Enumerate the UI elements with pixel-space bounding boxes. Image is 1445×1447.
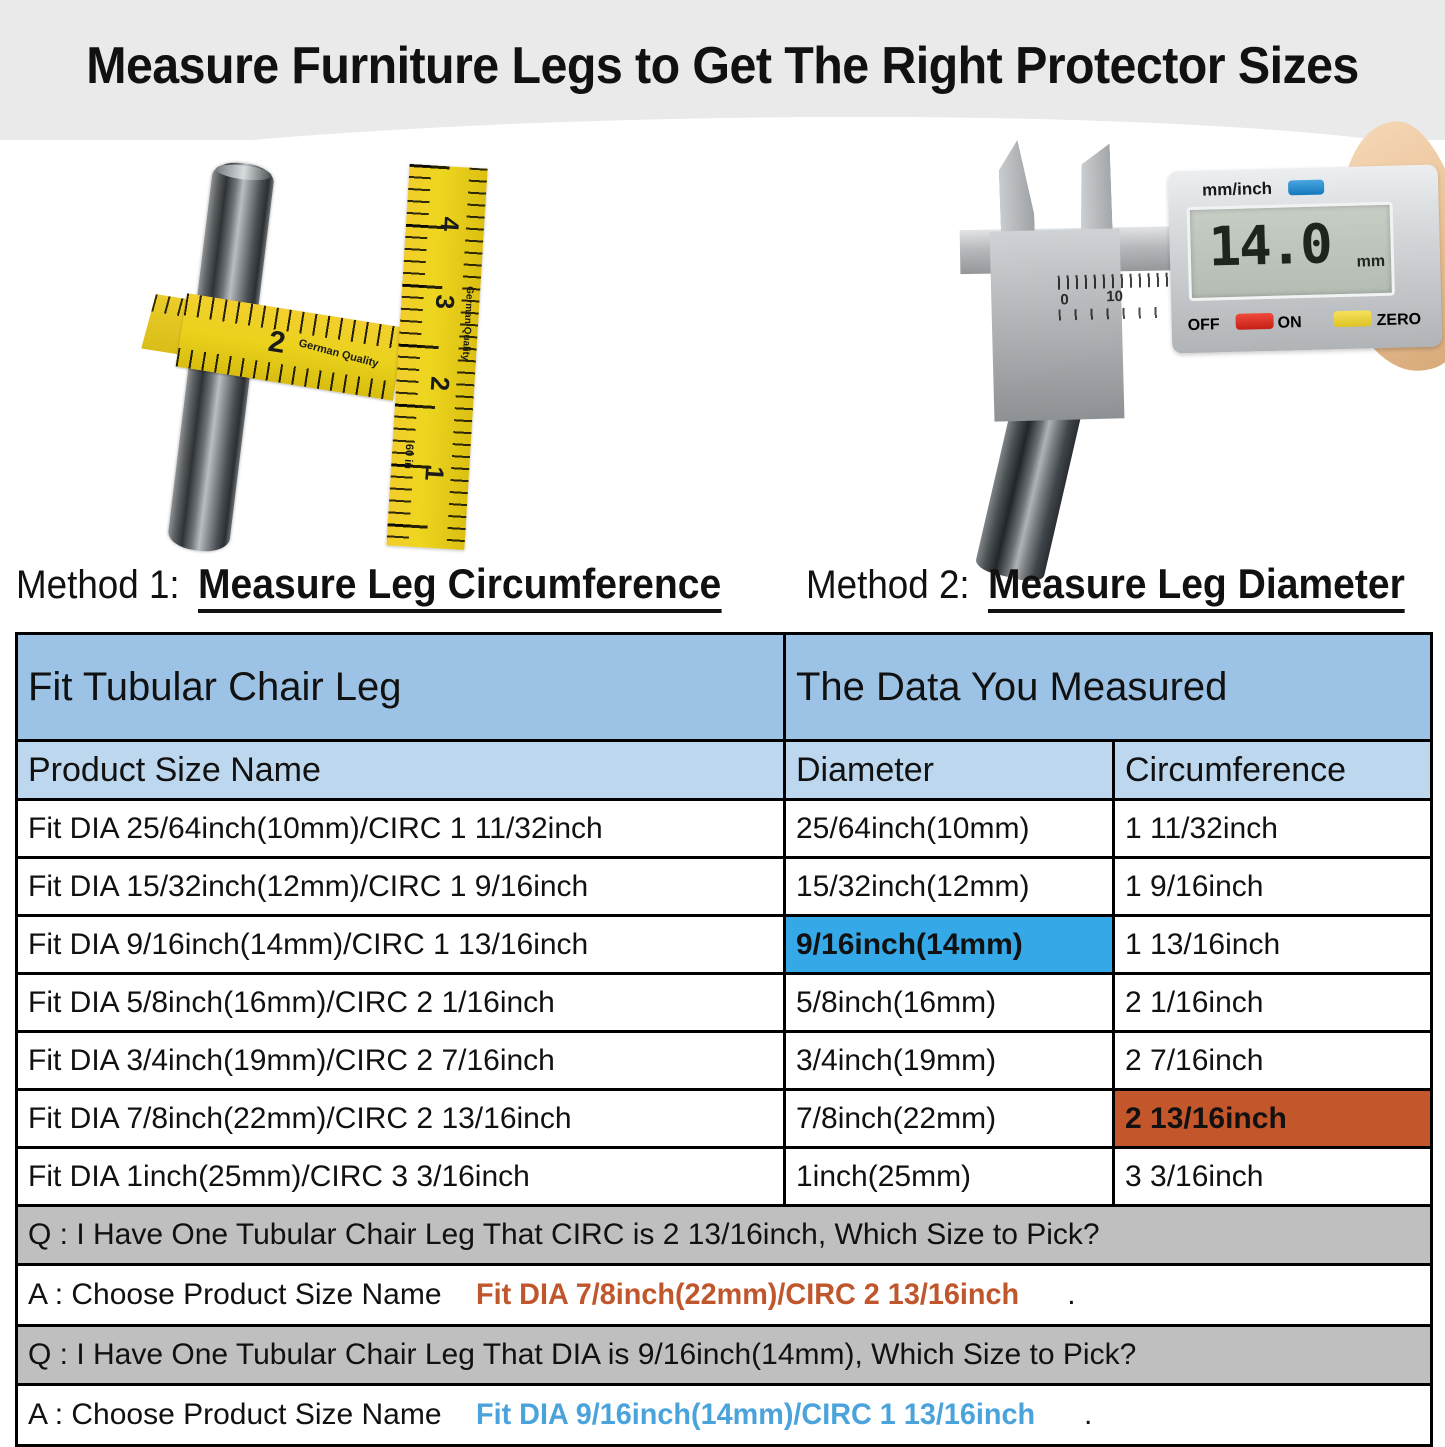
faq-answer-2-period: . [1084,1398,1092,1432]
cell-product-size-name: Fit DIA 3/4inch(19mm)/CIRC 2 7/16inch [17,1032,785,1090]
faq-answer-1: A : Choose Product Size Name Fit DIA 7/8… [17,1265,1432,1326]
faq-answer-2-label: A : Choose Product Size Name [28,1398,442,1432]
banner-curve-divider [0,106,1445,142]
cell-circumference: 1 13/16inch [1114,916,1432,974]
method-2: Method 2: Measure Leg Diameter [806,560,1436,613]
faq-question-row: Q : I Have One Tubular Chair Leg That CI… [17,1206,1432,1265]
on-off-button[interactable] [1235,313,1273,330]
table-row: Fit DIA 15/32inch(12mm)/CIRC 1 9/16inch … [17,858,1432,916]
cell-product-size-name: Fit DIA 9/16inch(14mm)/CIRC 1 13/16inch [17,916,785,974]
faq-answer-1-label: A : Choose Product Size Name [28,1278,442,1312]
ruler-mark-1: 1 [418,465,450,481]
table-row: Fit DIA 1inch(25mm)/CIRC 3 3/16inch 1inc… [17,1148,1432,1206]
title-banner: Measure Furniture Legs to Get The Right … [0,0,1445,142]
ruler-mark-4: 4 [433,216,465,232]
faq-answer-1-period: . [1067,1278,1075,1312]
caliper-scale-ten: 10 [1106,288,1123,305]
faq-answer-2-value: Fit DIA 9/16inch(14mm)/CIRC 1 13/16inch [476,1398,1035,1432]
method-1: Method 1: Measure Leg Circumference [16,560,760,613]
lcd-value: 14.0 [1208,212,1332,278]
cell-circumference: 1 11/32inch [1114,800,1432,858]
photo-row: 2 German Quality 1 2 3 4 German Quality … [0,140,1445,565]
page-title: Measure Furniture Legs to Get The Right … [51,36,1395,96]
tube-with-tape-measure-photo: 2 German Quality 1 2 3 4 German Quality … [120,140,600,565]
table-column-header-row: Product Size Name Diameter Circumference [17,741,1432,800]
ruler-mark-2: 2 [424,376,456,392]
yellow-ruler: 1 2 3 4 German Quality 60 in [386,164,487,550]
cell-product-size-name: Fit DIA 15/32inch(12mm)/CIRC 1 9/16inch [17,858,785,916]
cell-product-size-name: Fit DIA 7/8inch(22mm)/CIRC 2 13/16inch [17,1090,785,1148]
table-row: Fit DIA 9/16inch(14mm)/CIRC 1 13/16inch … [17,916,1432,974]
caliper-display-body: mm/inch 14.0 mm OFF ON ZERO [1168,164,1443,353]
table-row: Fit DIA 7/8inch(22mm)/CIRC 2 13/16inch 7… [17,1090,1432,1148]
cell-diameter: 25/64inch(10mm) [785,800,1114,858]
cell-diameter: 5/8inch(16mm) [785,974,1114,1032]
cell-circumference: 2 1/16inch [1114,974,1432,1032]
cell-diameter-highlighted: 9/16inch(14mm) [785,916,1114,974]
faq-question-2: Q : I Have One Tubular Chair Leg That DI… [17,1326,1432,1385]
cell-circumference: 1 9/16inch [1114,858,1432,916]
caliper-vernier-ticks [1059,307,1169,321]
faq-answer-row: A : Choose Product Size Name Fit DIA 7/8… [17,1265,1432,1326]
column-header-product-size-name: Product Size Name [17,741,785,800]
lcd-unit: mm [1356,253,1385,272]
faq-question-1: Q : I Have One Tubular Chair Leg That CI… [17,1206,1432,1265]
table-row: Fit DIA 25/64inch(10mm)/CIRC 1 11/32inch… [17,800,1432,858]
ruler-length-label: 60 in [402,444,416,470]
cell-product-size-name: Fit DIA 1inch(25mm)/CIRC 3 3/16inch [17,1148,785,1206]
method-labels: Method 1: Measure Leg Circumference Meth… [0,560,1445,630]
method-2-title: Measure Leg Diameter [988,560,1405,613]
cell-diameter: 7/8inch(22mm) [785,1090,1114,1148]
cell-circumference-highlighted: 2 13/16inch [1114,1090,1432,1148]
faq-answer-row: A : Choose Product Size Name Fit DIA 9/1… [17,1385,1432,1446]
faq-question-row: Q : I Have One Tubular Chair Leg That DI… [17,1326,1432,1385]
mm-inch-label: mm/inch [1202,179,1272,201]
on-label: ON [1277,314,1301,333]
column-header-diameter: Diameter [785,741,1114,800]
zero-label: ZERO [1376,311,1421,330]
group-header-fit-leg: Fit Tubular Chair Leg [17,634,785,741]
table-group-header-row: Fit Tubular Chair Leg The Data You Measu… [17,634,1432,741]
method-1-prefix: Method 1: [16,563,180,608]
group-header-measured-data: The Data You Measured [785,634,1432,741]
cell-circumference: 3 3/16inch [1114,1148,1432,1206]
method-1-title: Measure Leg Circumference [198,560,721,613]
cell-diameter: 1inch(25mm) [785,1148,1114,1206]
ruler-mark-3: 3 [429,294,461,310]
mm-inch-button[interactable] [1288,179,1324,195]
cell-circumference: 2 7/16inch [1114,1032,1432,1090]
cell-diameter: 3/4inch(19mm) [785,1032,1114,1090]
caliper-lcd-screen: 14.0 mm [1187,202,1395,301]
cell-product-size-name: Fit DIA 5/8inch(16mm)/CIRC 2 1/16inch [17,974,785,1032]
size-chart-table: Fit Tubular Chair Leg The Data You Measu… [15,632,1433,1447]
faq-answer-1-value: Fit DIA 7/8inch(22mm)/CIRC 2 13/16inch [476,1278,1019,1312]
table-row: Fit DIA 3/4inch(19mm)/CIRC 2 7/16inch 3/… [17,1032,1432,1090]
digital-caliper-photo: 0 10 mm/inch 14.0 mm OFF ON ZERO [940,140,1445,565]
method-2-prefix: Method 2: [806,563,970,608]
caliper-scale: 0 10 [1057,250,1179,323]
cell-diameter: 15/32inch(12mm) [785,858,1114,916]
column-header-circumference: Circumference [1114,741,1432,800]
table-row: Fit DIA 5/8inch(16mm)/CIRC 2 1/16inch 5/… [17,974,1432,1032]
off-label: OFF [1187,316,1219,335]
caliper-scale-zero: 0 [1060,291,1069,308]
zero-button[interactable] [1333,310,1371,327]
faq-answer-2: A : Choose Product Size Name Fit DIA 9/1… [17,1385,1432,1446]
cell-product-size-name: Fit DIA 25/64inch(10mm)/CIRC 1 11/32inch [17,800,785,858]
